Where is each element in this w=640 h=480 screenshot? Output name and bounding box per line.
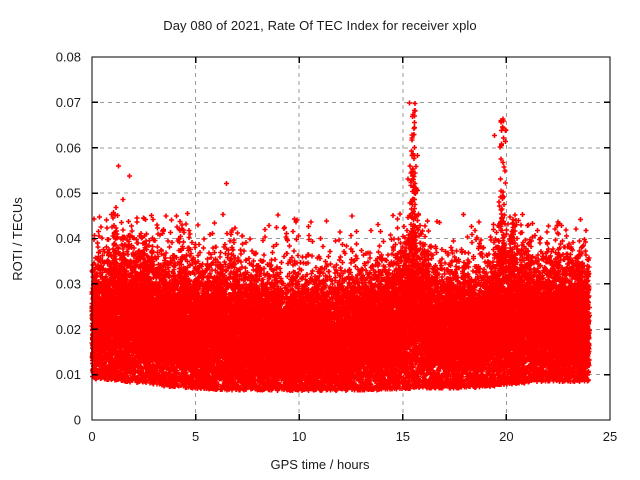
svg-text:0: 0 (88, 429, 95, 444)
svg-text:ROTI / TECUs: ROTI / TECUs (10, 197, 25, 281)
svg-text:10: 10 (292, 429, 306, 444)
data-points (90, 101, 593, 394)
svg-text:0: 0 (74, 413, 81, 428)
svg-text:5: 5 (192, 429, 199, 444)
svg-text:15: 15 (396, 429, 410, 444)
svg-text:0.08: 0.08 (56, 50, 81, 65)
svg-text:0.06: 0.06 (56, 140, 81, 155)
scatter-plot: 00.010.020.030.040.050.060.070.080510152… (0, 0, 640, 480)
svg-text:GPS time / hours: GPS time / hours (271, 457, 370, 472)
chart-container: Day 080 of 2021, Rate Of TEC Index for r… (0, 0, 640, 480)
svg-text:0.04: 0.04 (56, 231, 81, 246)
svg-text:0.05: 0.05 (56, 186, 81, 201)
svg-text:0.03: 0.03 (56, 276, 81, 291)
svg-text:20: 20 (499, 429, 513, 444)
svg-text:0.02: 0.02 (56, 322, 81, 337)
svg-text:0.01: 0.01 (56, 367, 81, 382)
svg-text:25: 25 (603, 429, 617, 444)
svg-text:0.07: 0.07 (56, 95, 81, 110)
